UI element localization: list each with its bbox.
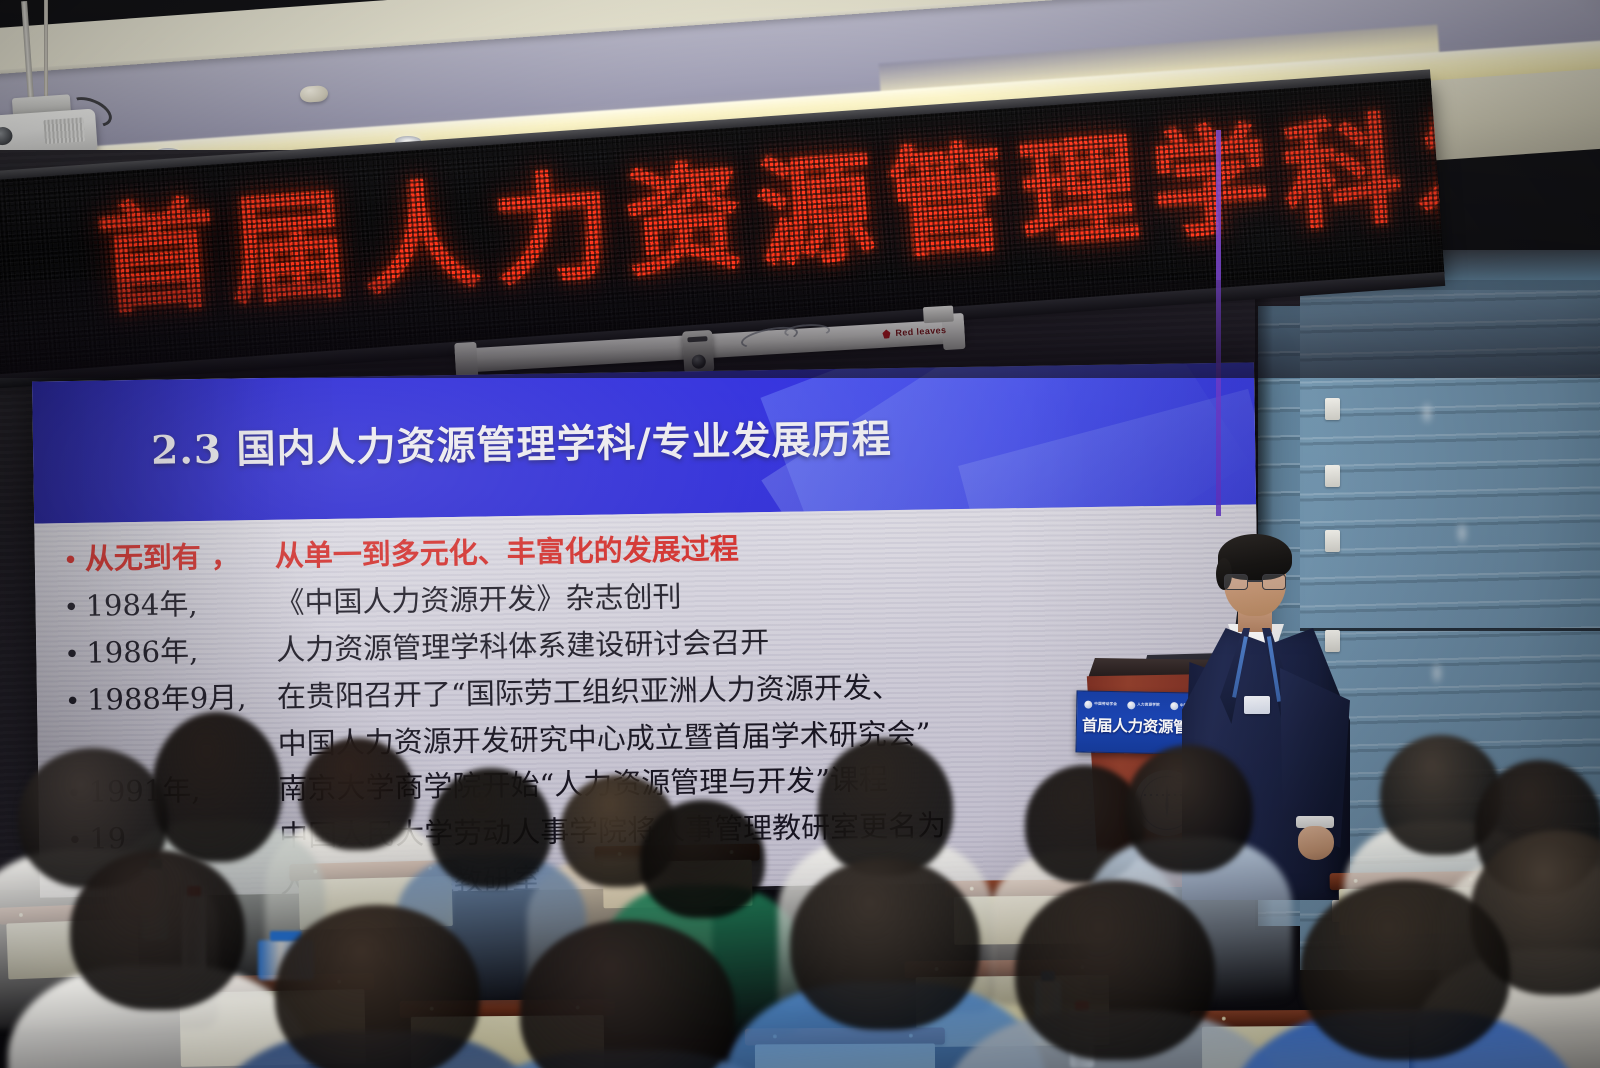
audience-head (430, 768, 552, 888)
bullet-text: 人力资源管理学科体系建设研讨会召开 (276, 622, 770, 670)
conference-hall-photo: 首届人力资源管理学科发展论坛 Red leaves 2.3 国内人力资源管理学科… (0, 0, 1600, 1068)
bullet-year: 1986年, (86, 630, 277, 673)
audience-head (275, 905, 480, 1068)
audience-head (790, 858, 980, 1030)
wall-sheen (1455, 520, 1469, 546)
bullet-year: 1984年, (85, 583, 276, 626)
audience-head (152, 712, 282, 862)
wall-sheen (1430, 660, 1444, 686)
bullet-text: 《中国人力资源开发》杂志创刊 (275, 576, 682, 622)
audience-head (300, 738, 415, 850)
glasses-lens (1262, 574, 1286, 590)
glasses-lens (1224, 574, 1248, 590)
audience-head (1015, 880, 1215, 1060)
bullet-dot-icon: • (63, 541, 86, 581)
bullet-dot-icon: • (64, 635, 87, 675)
bullet-dot-icon: • (63, 588, 86, 628)
audience (0, 690, 1600, 1068)
speaker-glasses-icon (1224, 574, 1286, 590)
wall-outlet-plate (1325, 398, 1340, 420)
bullet-year: 从无到有 ， (84, 536, 275, 579)
audience-head (640, 800, 765, 918)
foreground-shadow (0, 280, 1600, 378)
bullet-text: 从单一到多元化、丰富化的发展过程 (274, 529, 739, 576)
wall-sheen (1420, 400, 1434, 426)
slide-title-band: 2.3 国内人力资源管理学科/专业发展历程 (32, 362, 1256, 523)
slide-title: 2.3 国内人力资源管理学科/专业发展历程 (151, 408, 892, 476)
audience-head (1125, 745, 1253, 873)
glasses-bridge (1248, 580, 1262, 582)
wall-outlet-plate (1325, 465, 1340, 487)
hanger-rod (44, 0, 48, 96)
audience-head (70, 850, 245, 1010)
audience-head (818, 738, 953, 876)
audience-head (1300, 880, 1510, 1060)
